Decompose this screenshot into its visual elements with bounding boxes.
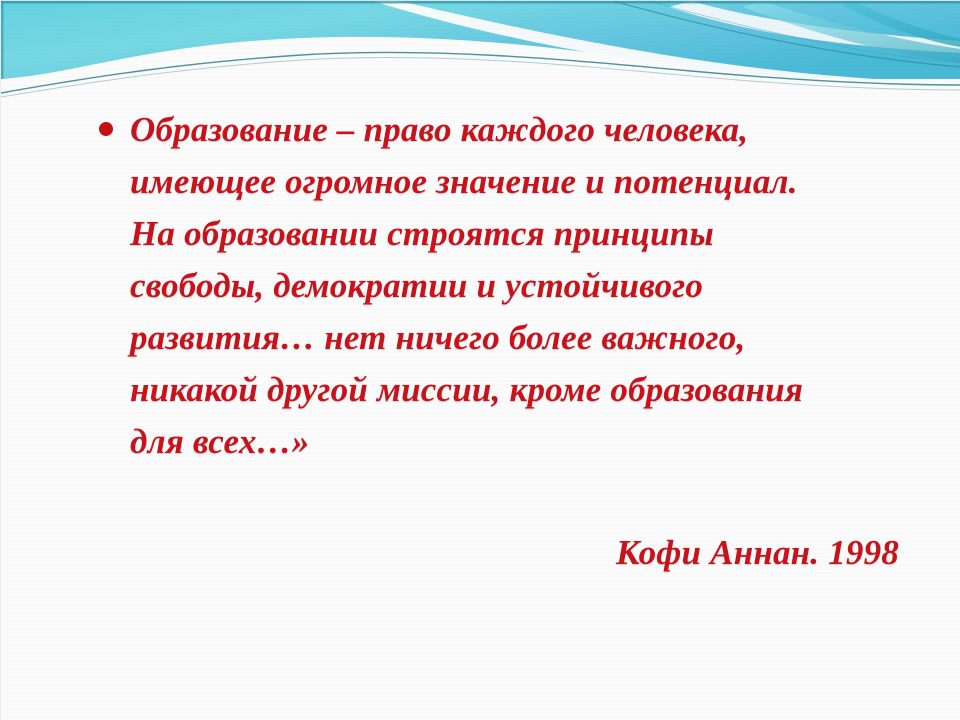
slide-content: Образование – право каждого человека, им… bbox=[1, 1, 960, 720]
quote-attribution: Кофи Аннан. 1998 bbox=[99, 528, 899, 578]
quote-bullet-item: Образование – право каждого человека, им… bbox=[99, 104, 899, 468]
quote-text: Образование – право каждого человека, им… bbox=[130, 104, 830, 468]
bullet-dot-icon bbox=[99, 122, 113, 136]
presentation-slide: Образование – право каждого человека, им… bbox=[0, 0, 960, 720]
